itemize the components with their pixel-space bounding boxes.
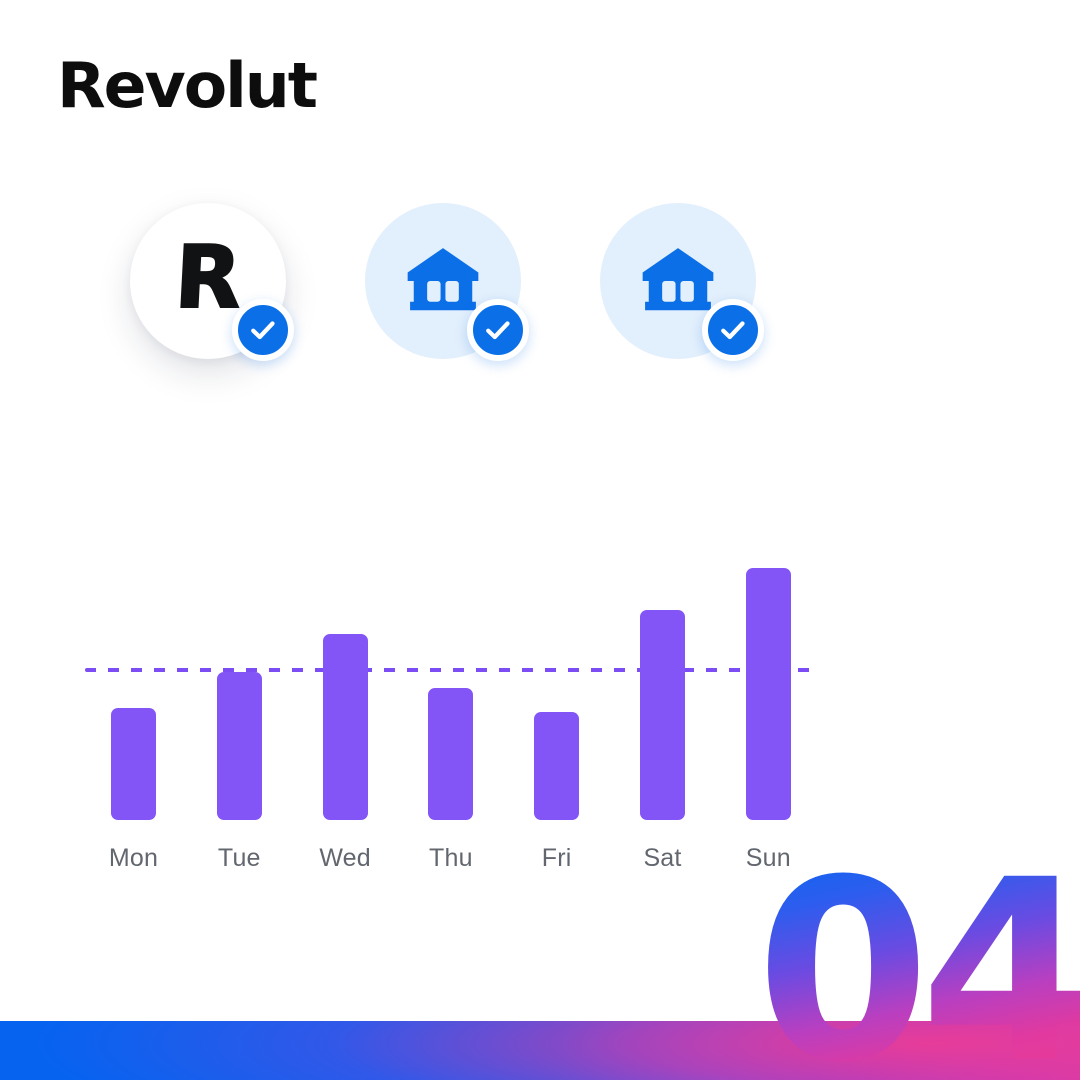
bank-building-icon <box>404 242 482 320</box>
bank-building-icon <box>639 242 717 320</box>
bar-tue[interactable] <box>217 672 262 820</box>
check-badge-icon <box>702 299 764 361</box>
revolut-r-logo-icon: R <box>173 235 244 321</box>
slide-number: 04 <box>756 869 1080 1074</box>
x-tick-tue: Tue <box>191 844 287 873</box>
account-badge-bank-1[interactable] <box>365 203 521 359</box>
connected-accounts-row: R <box>0 0 1080 420</box>
bar-sat[interactable] <box>640 610 685 820</box>
average-dashed-line <box>85 668 818 672</box>
x-tick-mon: Mon <box>86 844 182 873</box>
bar-fri[interactable] <box>534 712 579 820</box>
check-badge-icon <box>232 299 294 361</box>
account-badge-revolut[interactable]: R <box>130 203 286 359</box>
x-tick-wed: Wed <box>297 844 393 873</box>
account-badge-bank-2[interactable] <box>600 203 756 359</box>
bar-wed[interactable] <box>323 634 368 820</box>
bar-thu[interactable] <box>428 688 473 820</box>
bar-mon[interactable] <box>111 708 156 820</box>
x-tick-thu: Thu <box>403 844 499 873</box>
check-badge-icon <box>467 299 529 361</box>
slide-canvas: Revolut R <box>0 0 1080 1080</box>
x-tick-fri: Fri <box>509 844 605 873</box>
x-tick-sat: Sat <box>615 844 711 873</box>
bar-sun[interactable] <box>746 568 791 820</box>
